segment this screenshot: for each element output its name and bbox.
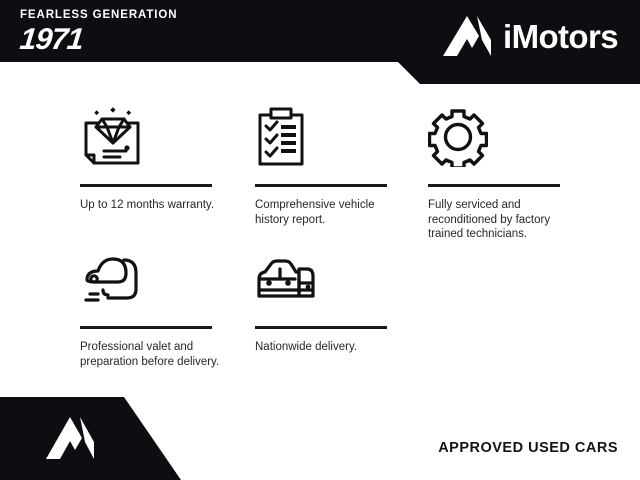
feature-item-warranty: Up to 12 months warranty. [80, 102, 230, 213]
imotors-chevron-logo-icon [44, 415, 96, 463]
feature-text: Nationwide delivery. [255, 340, 395, 355]
feature-text: Comprehensive vehicle history report. [255, 198, 395, 227]
feature-text: Up to 12 months warranty. [80, 198, 220, 213]
imotors-chevron-logo-icon [441, 14, 493, 60]
feature-item-nationwide-delivery: Nationwide delivery. [255, 244, 405, 355]
feature-item-serviced: Fully serviced and reconditioned by fact… [428, 102, 578, 242]
promo-banner: FEARLESS GENERATION 1971 iMotors [0, 0, 640, 480]
feature-divider [255, 184, 387, 187]
imotors-brand-lockup: iMotors [441, 14, 618, 60]
feature-divider [80, 184, 212, 187]
feature-divider [255, 326, 387, 329]
imotors-wordmark: iMotors [503, 20, 618, 54]
feature-divider [80, 326, 212, 329]
fearless-generation-tagline: FEARLESS GENERATION [20, 8, 280, 22]
feature-text: Fully serviced and reconditioned by fact… [428, 198, 568, 242]
footer-angled-block [0, 397, 200, 480]
feature-item-history-report: Comprehensive vehicle history report. [255, 102, 405, 227]
car-transporter-truck-icon [255, 244, 405, 314]
warranty-diamond-certificate-icon [80, 102, 230, 172]
feature-item-valet: Professional valet and preparation befor… [80, 244, 230, 369]
year-1971-logo: 1971 [18, 24, 281, 56]
approved-used-cars-tagline: APPROVED USED CARS [438, 440, 618, 456]
gear-cog-icon [428, 102, 578, 172]
vacuum-cleaner-icon [80, 244, 230, 314]
feature-divider [428, 184, 560, 187]
header-left-logo-group: FEARLESS GENERATION 1971 [20, 8, 280, 56]
clipboard-checklist-icon [255, 102, 405, 172]
feature-text: Professional valet and preparation befor… [80, 340, 220, 369]
